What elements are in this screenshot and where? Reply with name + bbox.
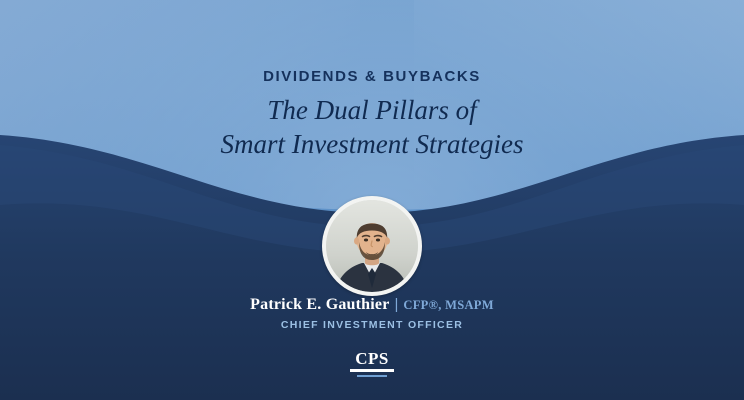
speaker-name-row: Patrick E. Gauthier|CFP®, MSAPM [0, 296, 744, 314]
cps-logo: CPS [347, 350, 397, 384]
logo-text: CPS [347, 350, 397, 368]
slide-content: DIVIDENDS & BUYBACKS The Dual Pillars of… [0, 0, 744, 400]
headline-line-2: Smart Investment Strategies [0, 127, 744, 161]
name-separator: | [395, 296, 399, 313]
speaker-avatar [322, 196, 422, 296]
slide-headline: The Dual Pillars of Smart Investment Str… [0, 93, 744, 161]
speaker-name: Patrick E. Gauthier [250, 296, 389, 313]
headline-line-1: The Dual Pillars of [267, 95, 476, 125]
logo-bar-accent [357, 375, 387, 377]
slide-eyebrow: DIVIDENDS & BUYBACKS [0, 68, 744, 85]
speaker-job-title: CHIEF INVESTMENT OFFICER [0, 319, 744, 331]
avatar-photo [326, 200, 418, 292]
presentation-slide: DIVIDENDS & BUYBACKS The Dual Pillars of… [0, 0, 744, 400]
speaker-credentials: CFP®, MSAPM [403, 298, 493, 312]
logo-bar [350, 369, 394, 372]
